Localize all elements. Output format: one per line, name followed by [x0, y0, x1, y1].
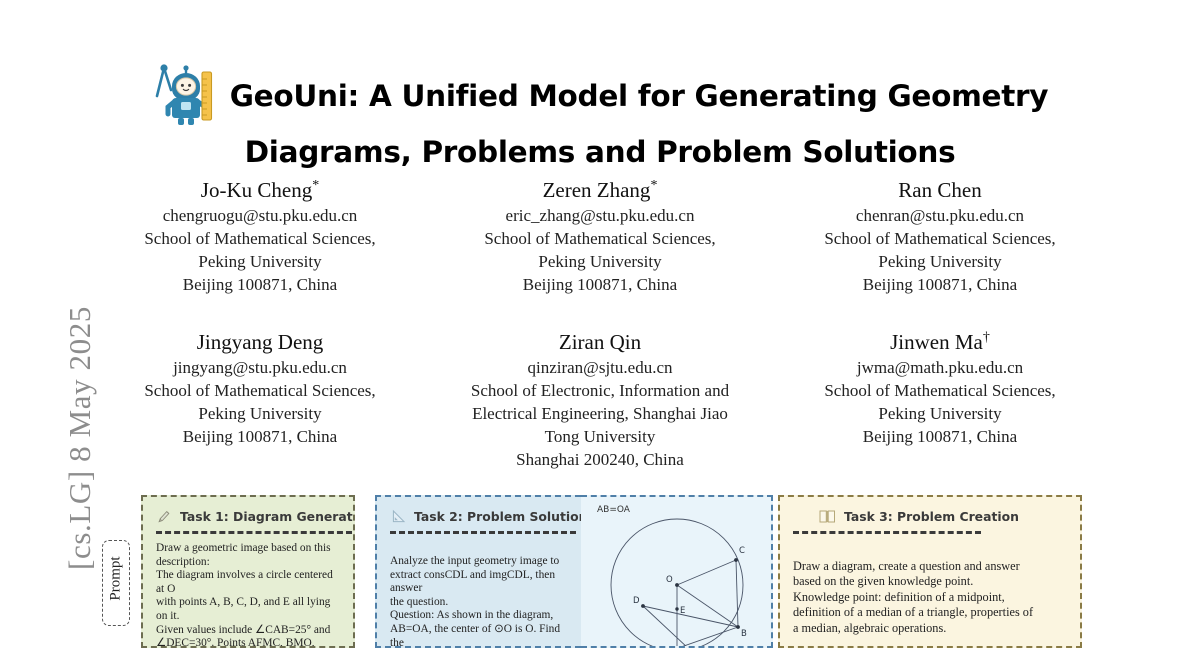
task3-divider [793, 531, 981, 534]
paper-content: GeoUni: A Unified Model for Generating G… [90, 0, 1200, 648]
author-name-text: Jo-Ku Cheng [201, 178, 312, 202]
pencil-icon [156, 508, 173, 525]
task3-body-line: definition of a median of a triangle, pr… [793, 605, 1069, 620]
open-book-icon [818, 508, 837, 524]
author-affiliation-line: School of Electronic, Information and [444, 379, 756, 402]
title-row: GeoUni: A Unified Model for Generating G… [90, 62, 1110, 130]
author-block: Jo-Ku Cheng* chengruogu@stu.pku.edu.cn S… [90, 172, 1110, 471]
task2-body-line: AB=OA, the center of ⊙O is O. Find the [390, 623, 570, 648]
task2-title: Task 2: Problem Solution [414, 509, 581, 524]
task1-body-line: Draw a geometric image based on this [156, 542, 342, 556]
task2-body-line: Analyze the input geometry image to [390, 555, 570, 569]
author-affiliation-line: School of Mathematical Sciences, [104, 227, 416, 250]
author-cell: Jinwen Ma† jwma@math.pku.edu.cn School o… [770, 324, 1110, 471]
author-affiliation-line: Electrical Engineering, Shanghai Jiao [444, 402, 756, 425]
svg-text:D: D [633, 596, 640, 606]
author-name-text: Ziran Qin [559, 330, 641, 354]
task3-body-line: a median, algebraic operations. [793, 621, 1069, 636]
task2-body-line: Question: As shown in the diagram, [390, 609, 570, 623]
author-affiliation-line: School of Mathematical Sciences, [104, 379, 416, 402]
author-email: chenran@stu.pku.edu.cn [784, 204, 1096, 227]
task3-body-line: Knowledge point: definition of a midpoin… [793, 590, 1069, 605]
author-cell: Ziran Qin qinziran@sjtu.edu.cn School of… [430, 324, 770, 471]
prompt-tag-label: Prompt [108, 537, 125, 621]
author-name: Jinwen Ma† [784, 324, 1096, 356]
task3-body-line: Draw a diagram, create a question and an… [793, 559, 1069, 574]
task2-body: Analyze the input geometry image to extr… [390, 555, 570, 648]
author-affiliation-line: Beijing 100871, China [444, 273, 756, 296]
task1-divider [156, 531, 352, 534]
author-name: Jo-Ku Cheng* [104, 172, 416, 204]
svg-text:O: O [666, 575, 673, 585]
svg-text:E: E [680, 606, 685, 616]
prompt-tag: Prompt [102, 540, 130, 626]
author-name-text: Jingyang Deng [197, 330, 324, 354]
author-affiliation-line: Peking University [104, 250, 416, 273]
author-email: qinziran@sjtu.edu.cn [444, 356, 756, 379]
task1-body-line: ∠DEC=30°. Points AFMC, BMO, DNO, [156, 637, 342, 648]
task1-panel: Task 1: Diagram Generation Draw a geomet… [141, 495, 355, 648]
author-name: Ziran Qin [444, 324, 756, 356]
task2-body-line: the question. [390, 596, 570, 610]
author-affiliation-line: Beijing 100871, China [104, 273, 416, 296]
author-affiliation-line: Tong University [444, 425, 756, 448]
diagram-annotation-ab-eq-oa: AB=OA [597, 505, 630, 515]
page-title-line2: Diagrams, Problems and Problem Solutions [90, 132, 1110, 172]
author-affiliation-line: Beijing 100871, China [784, 425, 1096, 448]
task2-divider [390, 531, 576, 534]
author-affiliation-line: Shanghai 200240, China [444, 448, 756, 471]
paper-title-block: GeoUni: A Unified Model for Generating G… [90, 62, 1110, 172]
author-name: Zeren Zhang* [444, 172, 756, 204]
author-affiliation-line: School of Mathematical Sciences, [784, 379, 1096, 402]
arxiv-stamp: [cs.LG] 8 May 2025 [0, 0, 90, 648]
author-affiliation-line: Peking University [784, 250, 1096, 273]
set-square-icon [390, 508, 407, 525]
task1-title: Task 1: Diagram Generation [180, 509, 355, 524]
page-title-line1: GeoUni: A Unified Model for Generating G… [230, 76, 1048, 116]
svg-text:C: C [739, 546, 745, 556]
task3-title: Task 3: Problem Creation [844, 509, 1019, 524]
task1-header: Task 1: Diagram Generation [156, 505, 342, 527]
author-cell: Zeren Zhang* eric_zhang@stu.pku.edu.cn S… [430, 172, 770, 296]
task1-body-line: The diagram involves a circle centered a… [156, 569, 342, 596]
author-name-text: Zeren Zhang [543, 178, 651, 202]
task3-body: Draw a diagram, create a question and an… [793, 559, 1069, 636]
author-email: chengruogu@stu.pku.edu.cn [104, 204, 416, 227]
author-email: jwma@math.pku.edu.cn [784, 356, 1096, 379]
author-marker: * [650, 178, 657, 193]
task2-header: Task 2: Problem Solution [390, 505, 570, 527]
author-affiliation-line: Beijing 100871, China [104, 425, 416, 448]
task1-body-line: description: [156, 556, 342, 570]
author-row-1: Jo-Ku Cheng* chengruogu@stu.pku.edu.cn S… [90, 172, 1110, 296]
author-affiliation-line: Peking University [444, 250, 756, 273]
author-cell: Jingyang Deng jingyang@stu.pku.edu.cn Sc… [90, 324, 430, 471]
task1-body-line: with points A, B, C, D, and E all lying … [156, 596, 342, 623]
author-affiliation-line: Peking University [784, 402, 1096, 425]
task3-panel: Task 3: Problem Creation Draw a diagram,… [778, 495, 1082, 648]
author-affiliation-line: Beijing 100871, China [784, 273, 1096, 296]
task1-body: Draw a geometric image based on this des… [156, 542, 342, 648]
author-name-text: Ran Chen [898, 178, 981, 202]
task3-header: Task 3: Problem Creation [793, 505, 1069, 527]
figure-task-panels: Prompt Task 1: Diagram Generation Draw a… [90, 495, 1200, 648]
author-name: Jingyang Deng [104, 324, 416, 356]
author-name: Ran Chen [784, 172, 1096, 204]
author-email: eric_zhang@stu.pku.edu.cn [444, 204, 756, 227]
task3-body-line: based on the given knowledge point. [793, 574, 1069, 589]
task2-body-line: extract consCDL and imgCDL, then answer [390, 569, 570, 596]
task2-input-diagram: AB=OA [581, 495, 773, 648]
author-affiliation-line: Peking University [104, 402, 416, 425]
author-affiliation-line: School of Mathematical Sciences, [784, 227, 1096, 250]
author-marker: † [983, 330, 990, 345]
author-marker: * [312, 178, 319, 193]
author-affiliation-line: School of Mathematical Sciences, [444, 227, 756, 250]
geometry-diagram-svg: C O D E B [581, 497, 769, 646]
svg-text:B: B [741, 629, 747, 639]
task2-panel: Task 2: Problem Solution Analyze the inp… [375, 495, 581, 648]
author-cell: Jo-Ku Cheng* chengruogu@stu.pku.edu.cn S… [90, 172, 430, 296]
author-cell: Ran Chen chenran@stu.pku.edu.cn School o… [770, 172, 1110, 296]
robot-with-compass-and-ruler-icon [152, 62, 220, 130]
author-row-2: Jingyang Deng jingyang@stu.pku.edu.cn Sc… [90, 324, 1110, 471]
task1-body-line: Given values include ∠CAB=25° and [156, 624, 342, 638]
author-name-text: Jinwen Ma [890, 330, 983, 354]
author-email: jingyang@stu.pku.edu.cn [104, 356, 416, 379]
